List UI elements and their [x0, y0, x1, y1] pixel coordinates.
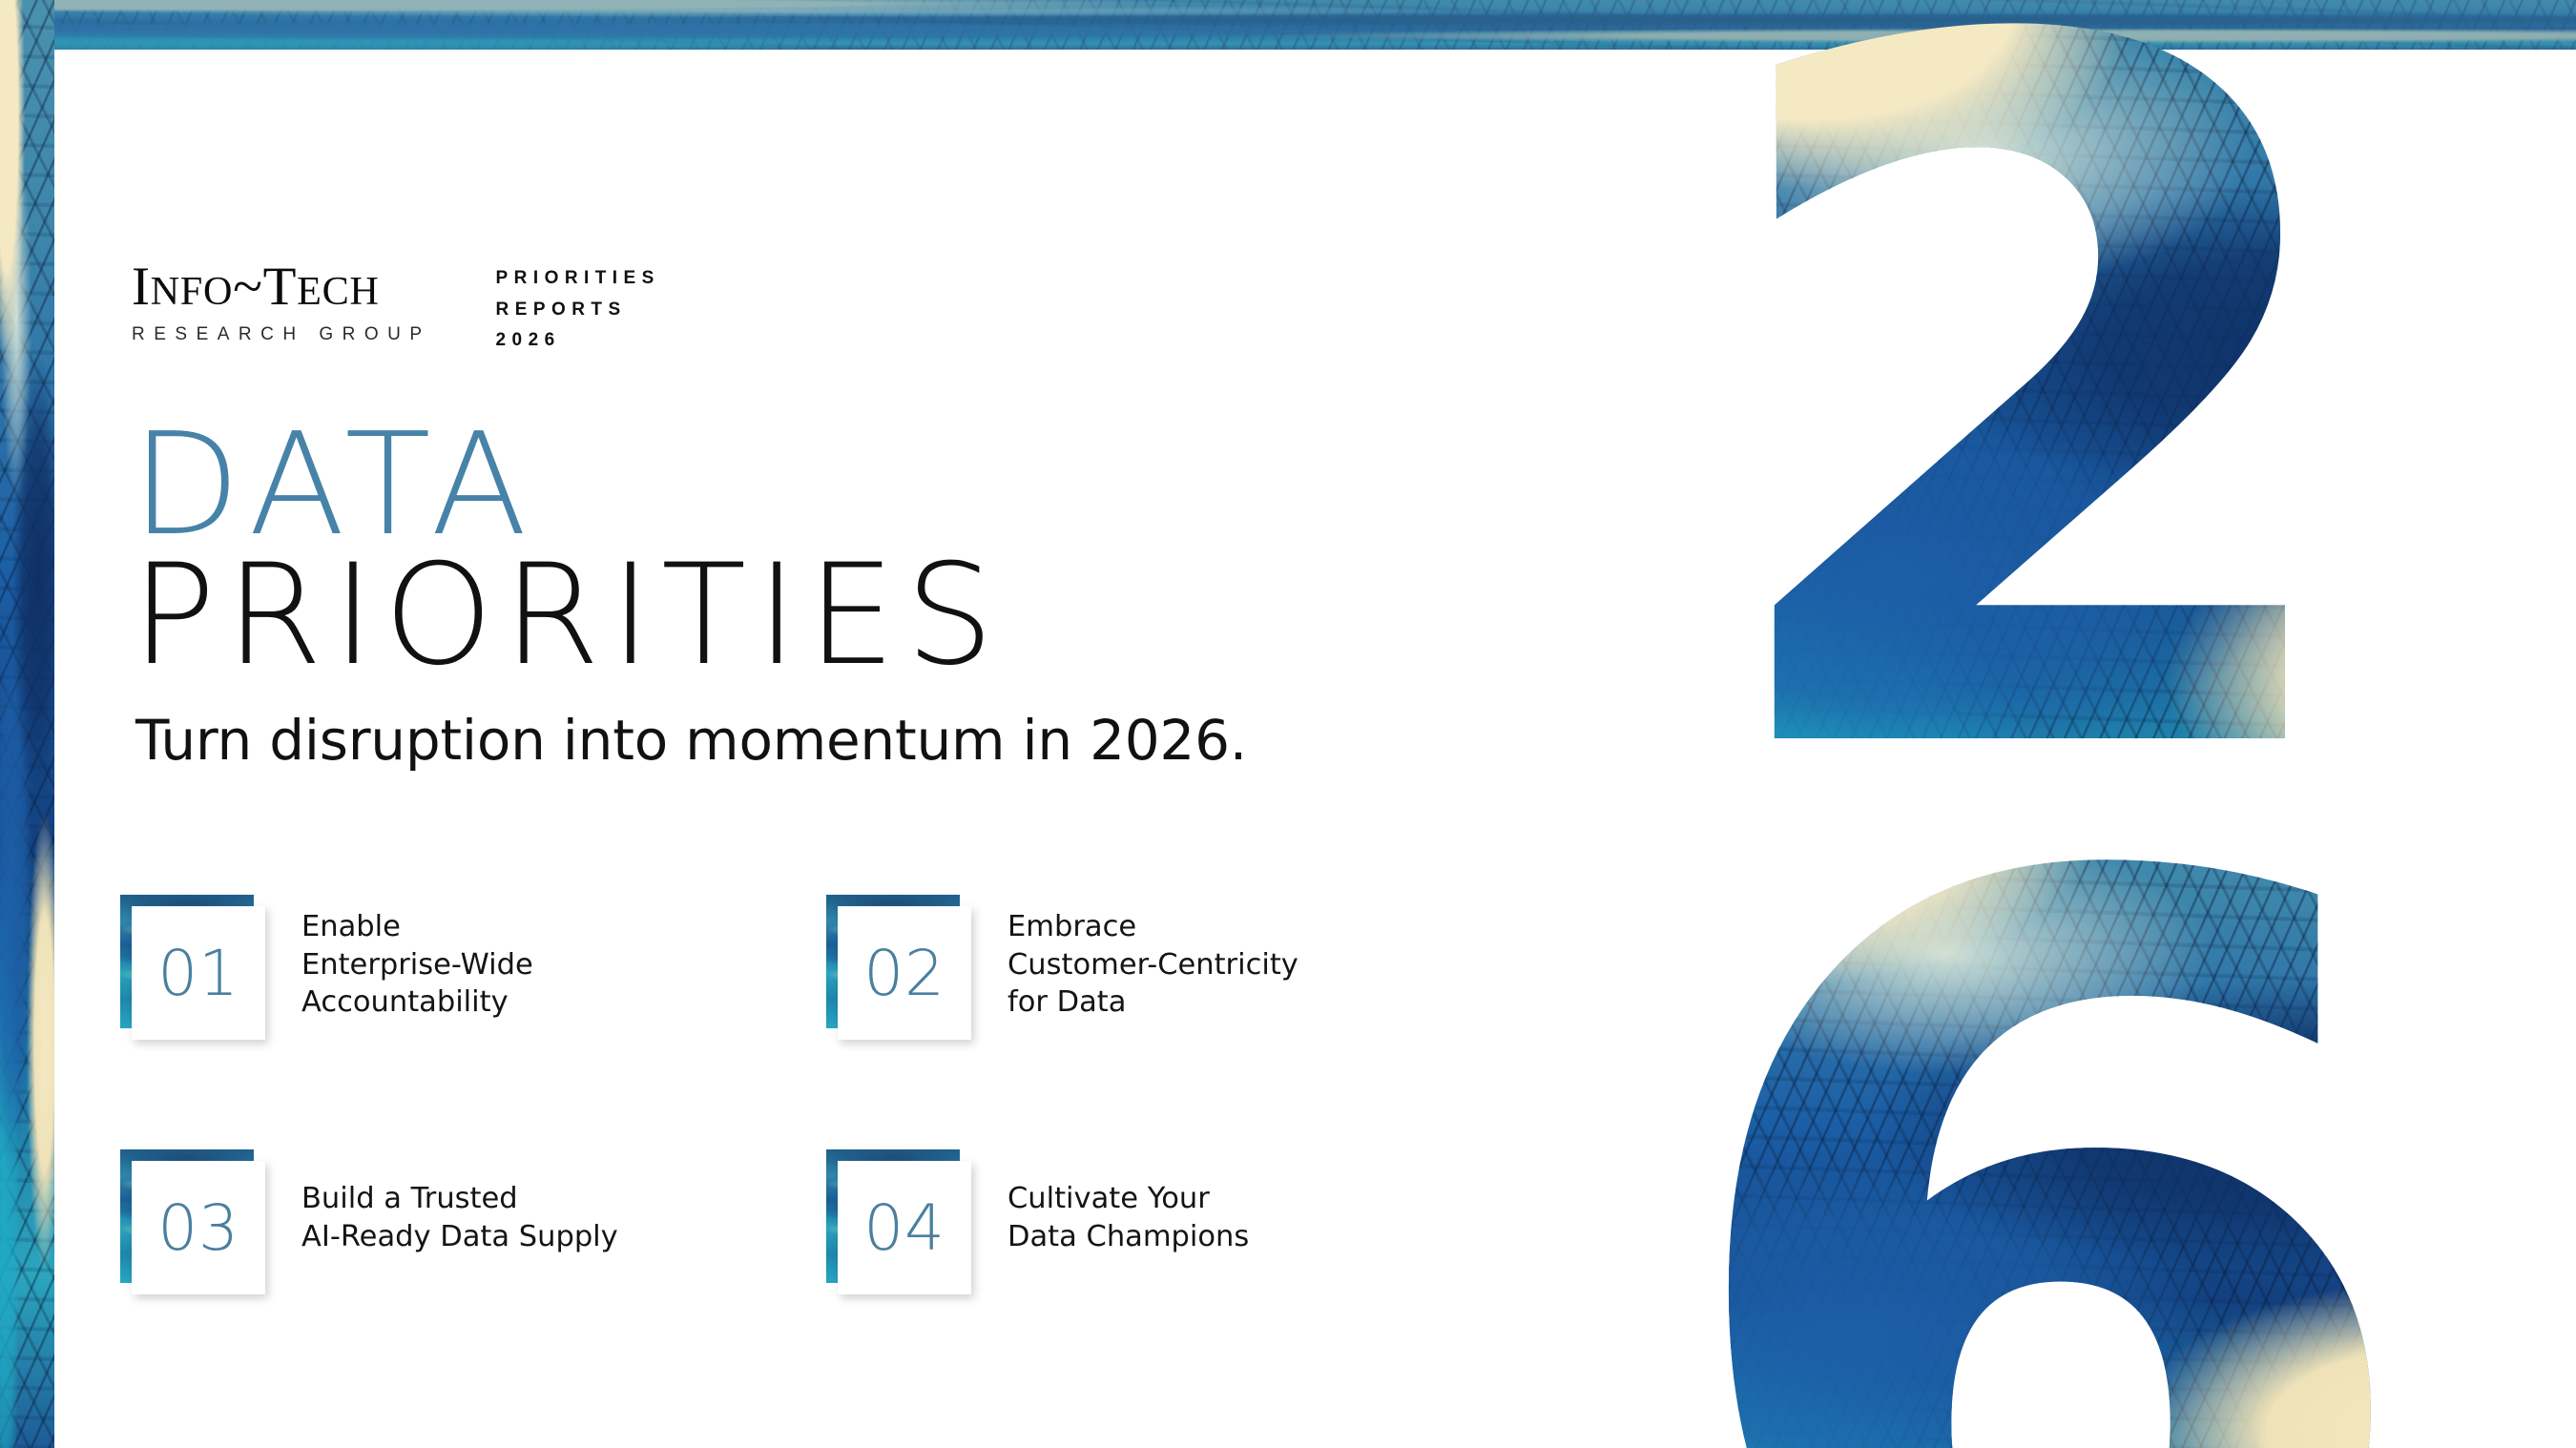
priority-badge-02: 02 — [826, 895, 971, 1040]
priority-number: 02 — [863, 937, 945, 1010]
report-tag-line-2: REPORTS — [496, 295, 660, 326]
big-numeral-two: 2 — [1622, 0, 2576, 801]
logo-subline: RESEARCH GROUP — [132, 324, 431, 345]
priority-item-04[interactable]: 04 Cultivate Your Data Champions — [826, 1149, 1532, 1294]
badge-face: 02 — [838, 906, 971, 1040]
page-title: DATA PRIORITIES — [132, 420, 1004, 680]
report-tag-line-3: 2026 — [496, 325, 660, 357]
priority-badge-04: 04 — [826, 1149, 971, 1294]
title-line-data: DATA — [132, 420, 1004, 551]
priority-grid: 01 Enable Enterprise-Wide Accountability… — [120, 895, 1609, 1294]
priority-number: 04 — [863, 1191, 945, 1265]
page-subtitle: Turn disruption into momentum in 2026. — [135, 708, 1247, 773]
priority-item-02[interactable]: 02 Embrace Customer-Centricity for Data — [826, 895, 1532, 1040]
title-line-priorities: PRIORITIES — [132, 551, 1004, 681]
priority-number: 01 — [157, 937, 239, 1010]
priority-number: 03 — [157, 1191, 239, 1265]
badge-face: 01 — [132, 906, 265, 1040]
logo-wordmark: INFO~TECH — [132, 259, 431, 314]
big-numeral-six: 6 — [1622, 801, 2576, 1448]
priority-title: Build a Trusted AI-Ready Data Supply — [301, 1149, 618, 1255]
priority-title: Cultivate Your Data Champions — [1008, 1149, 1249, 1255]
priority-badge-03: 03 — [120, 1149, 265, 1294]
big-numeral-six-glyph: 6 — [1660, 801, 2576, 1448]
artwork-left-band — [0, 0, 54, 1448]
priority-item-03[interactable]: 03 Build a Trusted AI-Ready Data Supply — [120, 1149, 826, 1294]
report-tag-line-1: PRIORITIES — [496, 263, 660, 295]
brand-logo: INFO~TECH RESEARCH GROUP PRIORITIES REPO… — [132, 259, 660, 357]
badge-face: 04 — [838, 1161, 971, 1294]
priority-title: Enable Enterprise-Wide Accountability — [301, 895, 533, 1022]
priority-item-01[interactable]: 01 Enable Enterprise-Wide Accountability — [120, 895, 826, 1040]
badge-face: 03 — [132, 1161, 265, 1294]
priority-badge-01: 01 — [120, 895, 265, 1040]
report-series-tag: PRIORITIES REPORTS 2026 — [496, 259, 660, 357]
big-numeral-two-glyph: 2 — [1698, 0, 2576, 801]
priority-title: Embrace Customer-Centricity for Data — [1008, 895, 1298, 1022]
logo-mark: INFO~TECH RESEARCH GROUP — [132, 259, 431, 345]
